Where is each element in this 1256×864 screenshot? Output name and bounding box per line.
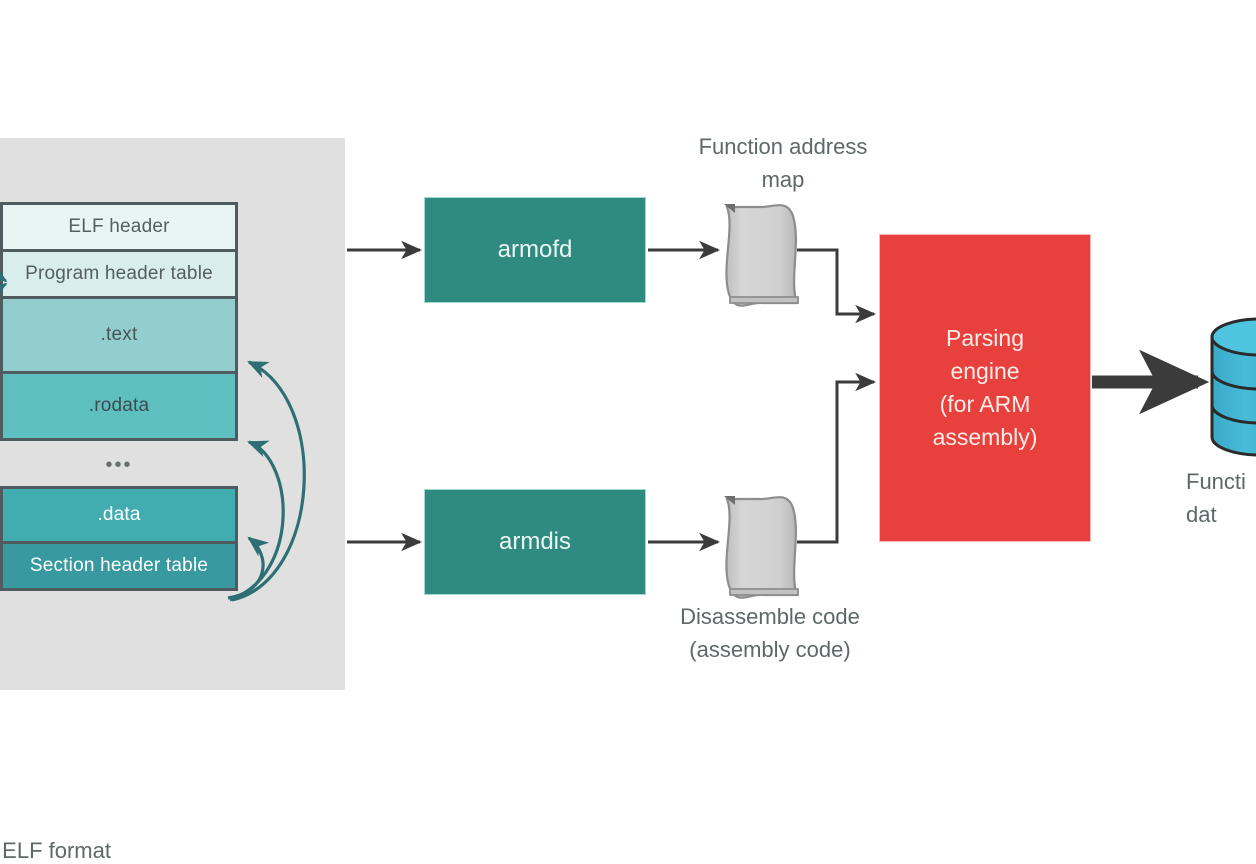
elf-section-label: .rodata: [89, 395, 150, 417]
parsing-engine-box[interactable]: Parsing engine (for ARM assembly): [880, 235, 1090, 541]
elf-panel-caption: Object file in ELF format: [0, 838, 111, 864]
elf-section-text: .text: [0, 296, 238, 374]
parsing-engine-label: Parsing engine (for ARM assembly): [933, 322, 1038, 454]
elf-object-file-panel: ELF header Program header table .text .r…: [0, 138, 345, 690]
process-box-armdis[interactable]: armdis: [425, 490, 645, 594]
elf-section-ellipsis: •••: [0, 441, 238, 489]
elf-section-rodata: .rodata: [0, 371, 238, 441]
process-box-armofd[interactable]: armofd: [425, 198, 645, 302]
function-database-label: Functi dat: [1186, 465, 1256, 531]
arrow-map-to-engine: [797, 250, 874, 314]
process-label: armofd: [498, 236, 573, 264]
diagram-canvas: ELF header Program header table .text .r…: [0, 0, 1256, 756]
elf-section-data: .data: [0, 486, 238, 544]
elf-section-label: Section header table: [30, 555, 208, 577]
elf-section-stack: ELF header Program header table .text .r…: [0, 205, 238, 591]
elf-section-section-header-table: Section header table: [0, 541, 238, 591]
elf-section-label: .text: [101, 324, 138, 346]
database-cylinder-icon: [1212, 319, 1256, 455]
disassemble-code-label: Disassemble code (assembly code): [610, 600, 930, 666]
elf-section-label: .data: [97, 504, 140, 526]
elf-section-program-header-table: Program header table: [0, 249, 238, 299]
elf-section-label: Program header table: [25, 263, 213, 285]
arrow-disasm-to-engine: [797, 382, 874, 542]
scroll-icon-disassemble-code: [724, 496, 798, 598]
function-address-map-label: Function address map: [628, 130, 938, 196]
process-label: armdis: [499, 528, 571, 556]
scroll-icon-function-address-map: [724, 204, 798, 306]
elf-section-label: ELF header: [68, 216, 169, 238]
elf-section-elf-header: ELF header: [0, 202, 238, 252]
